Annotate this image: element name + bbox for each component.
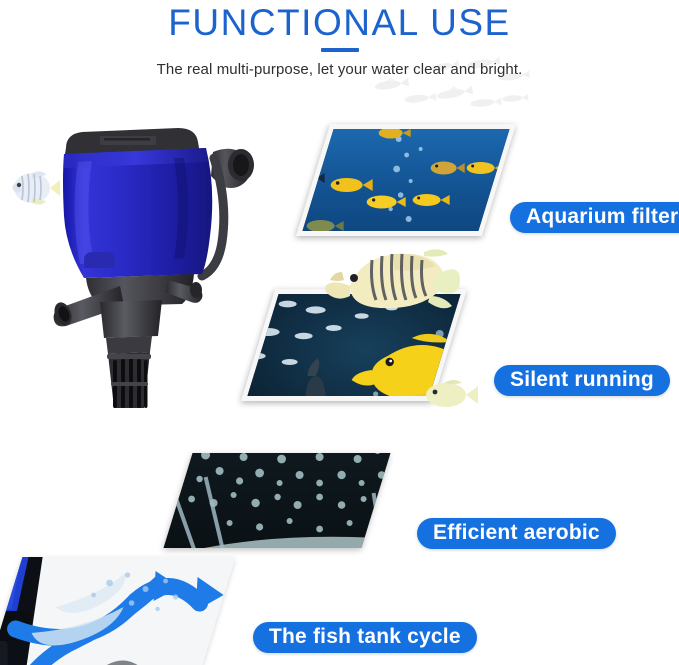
- feature-photo-aquarium-filter: [296, 124, 516, 236]
- feature-photo-fish-tank-cycle: [0, 557, 236, 665]
- feature-badge-efficient-aerobic[interactable]: Efficient aerobic: [417, 518, 616, 549]
- aquarium-photo-art: [302, 129, 509, 231]
- page-subtitle: The real multi-purpose, let your water c…: [0, 60, 679, 80]
- product-image-pump: [8, 110, 276, 410]
- decorative-small-fish-icon: [424, 378, 480, 412]
- decorative-butterflyfish-icon: [320, 248, 460, 320]
- water-cycle-photo-art: [0, 557, 236, 665]
- product-feature-page: FUNCTIONAL USE The real multi-purpose, l…: [0, 0, 679, 665]
- photo-inner: [302, 129, 509, 231]
- title-divider: [321, 48, 359, 52]
- feature-badge-aquarium-filter[interactable]: Aquarium filter: [510, 202, 679, 233]
- header: FUNCTIONAL USE The real multi-purpose, l…: [0, 0, 679, 100]
- aeration-photo-art: [163, 453, 390, 548]
- feature-badge-fish-tank-cycle[interactable]: The fish tank cycle: [253, 622, 477, 653]
- decorative-angelfish-icon: [8, 163, 62, 213]
- feature-badge-silent-running[interactable]: Silent running: [494, 365, 670, 396]
- page-title: FUNCTIONAL USE: [0, 2, 679, 44]
- feature-photo-efficient-aerobic: [163, 453, 390, 548]
